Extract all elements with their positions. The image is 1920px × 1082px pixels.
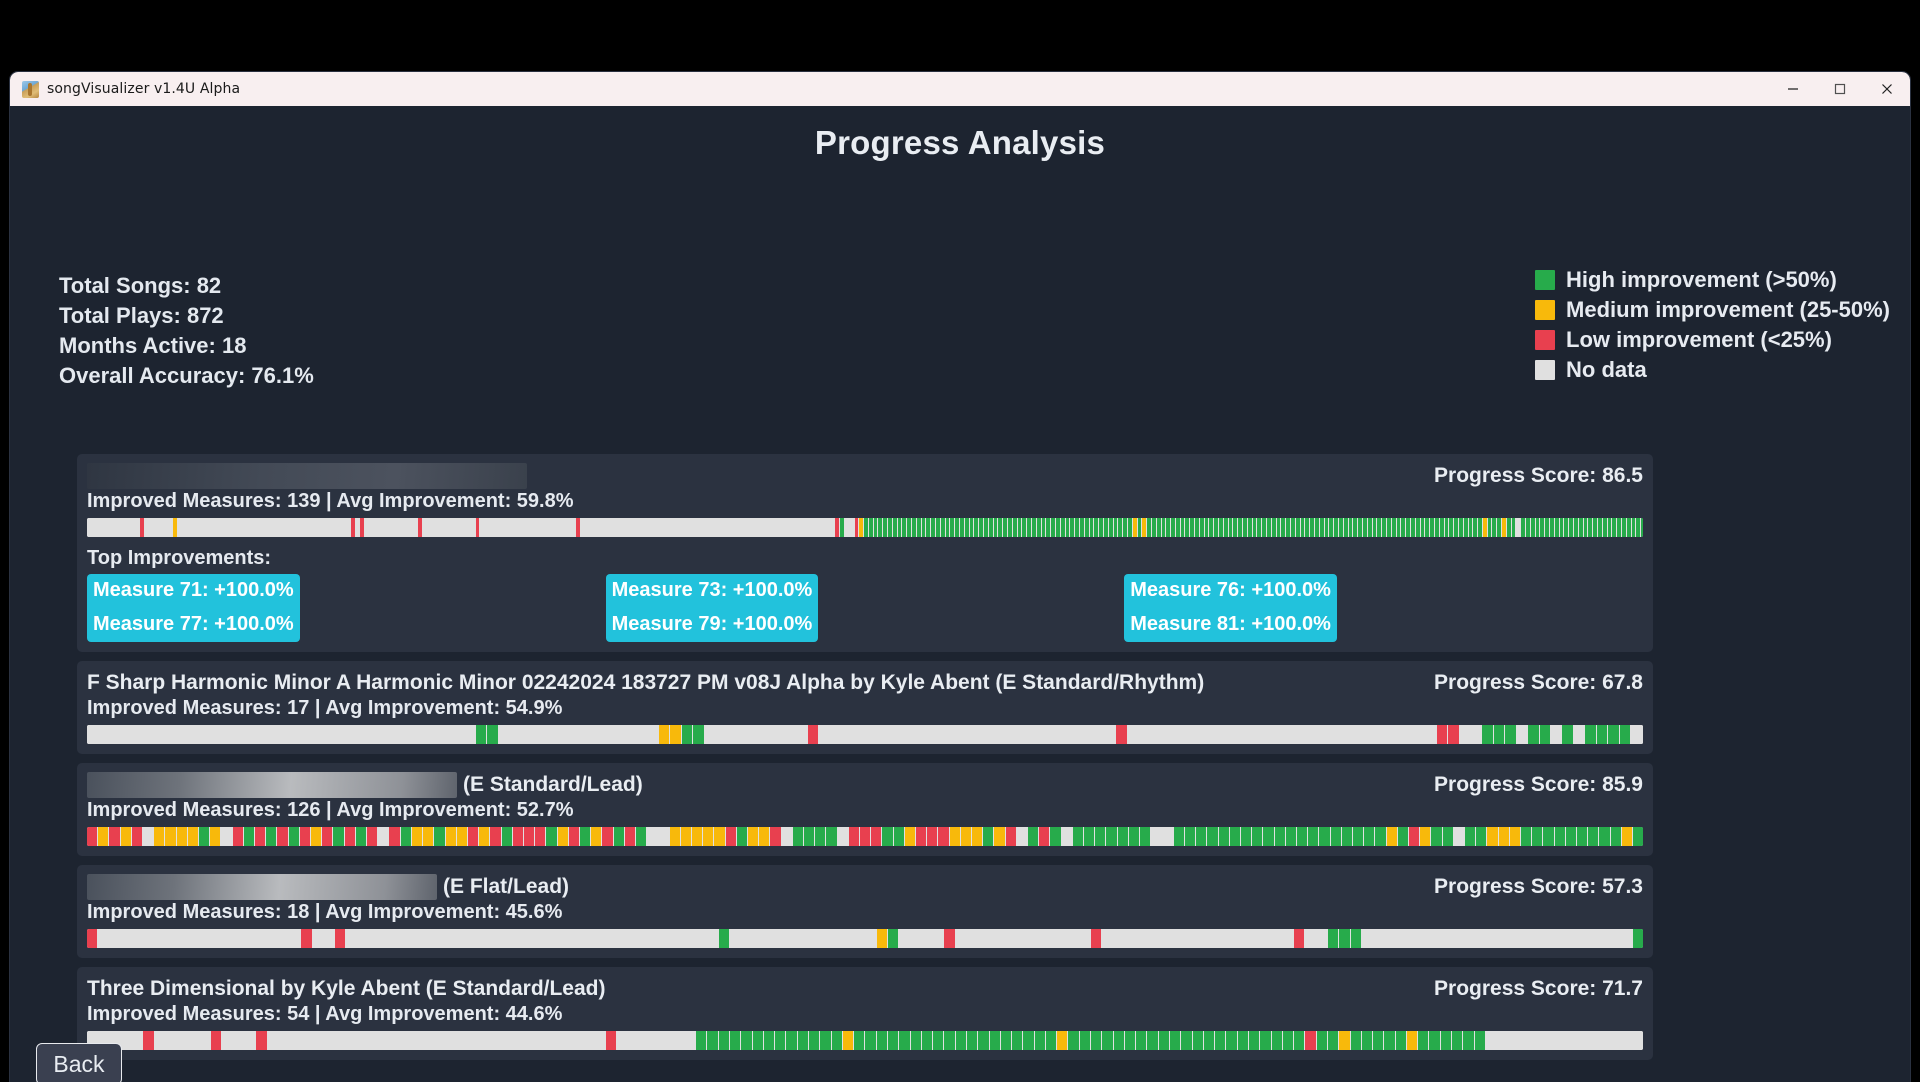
measure-cell [1351, 929, 1362, 948]
measure-cell [1170, 1031, 1181, 1050]
measure-cell [522, 725, 533, 744]
song-card[interactable]: F Sharp Harmonic Minor A Harmonic Minor … [77, 661, 1653, 754]
measure-cell [1441, 1031, 1452, 1050]
legend-item: Low improvement (<25%) [1535, 328, 1890, 352]
measure-cell [121, 929, 132, 948]
measure-cell [944, 1031, 955, 1050]
measure-cell [459, 1031, 470, 1050]
measure-cell [853, 725, 864, 744]
measure-cell [513, 827, 524, 846]
measure-cell [1460, 725, 1471, 744]
measure-progress-bar [87, 929, 1643, 948]
measure-cell [950, 827, 961, 846]
measure-cell [714, 827, 725, 846]
progress-score: Progress Score: 57.3 [1434, 873, 1643, 901]
measure-cell [1181, 1031, 1192, 1050]
measure-cell [1294, 929, 1305, 948]
measure-cell [1311, 725, 1322, 744]
measure-cell [1012, 1031, 1023, 1050]
legend-label: Medium improvement (25-50%) [1566, 297, 1890, 323]
measure-cell [1219, 725, 1230, 744]
measure-cell [1265, 725, 1276, 744]
measure-cell [1082, 725, 1093, 744]
measure-cell [572, 1031, 583, 1050]
measure-cell [221, 827, 232, 846]
measure-cell [1128, 725, 1139, 744]
measure-cell [457, 827, 468, 846]
measure-cell [482, 929, 493, 948]
measure-cell [1106, 827, 1117, 846]
measure-cell [1510, 827, 1521, 846]
improvement-chip[interactable]: Measure 71: +100.0% [87, 574, 300, 608]
measure-cell [1641, 518, 1643, 537]
stat-line: Overall Accuracy: 76.1% [59, 361, 314, 391]
measure-cell [211, 1031, 222, 1050]
measure-cell [471, 929, 482, 948]
measure-cell [651, 1031, 662, 1050]
measure-cell [1375, 827, 1386, 846]
measure-cell [693, 725, 704, 744]
measure-cell [1542, 929, 1553, 948]
measure-cell [1174, 725, 1185, 744]
measure-cell [1420, 827, 1431, 846]
progress-score: Progress Score: 71.7 [1434, 975, 1643, 1003]
page-content: Progress Analysis Total Songs: 82Total P… [10, 106, 1910, 1082]
measure-cell [1035, 929, 1046, 948]
measure-cell [1272, 1031, 1283, 1050]
measure-cell [1610, 929, 1621, 948]
measure-cell [572, 929, 583, 948]
measure-cell [956, 1031, 967, 1050]
measure-cell [750, 725, 761, 744]
measure-cell [1373, 929, 1384, 948]
measure-cell [1048, 725, 1059, 744]
measure-cell [591, 827, 602, 846]
measure-cell [245, 1031, 256, 1050]
measure-cell [1554, 1031, 1565, 1050]
measure-cell [842, 725, 853, 744]
measure-cell [737, 827, 748, 846]
song-title-text: F Sharp Harmonic Minor A Harmonic Minor … [87, 671, 1204, 695]
measure-cell [819, 725, 830, 744]
measure-cell [110, 929, 121, 948]
measure-cell [1384, 1031, 1395, 1050]
measure-cell [1275, 827, 1286, 846]
measure-cell [1136, 929, 1147, 948]
measure-cell [222, 1031, 233, 1050]
measure-cell [922, 1031, 933, 1050]
measure-cell [255, 827, 266, 846]
measure-cell [345, 827, 356, 846]
measure-cell [865, 1031, 876, 1050]
measure-cell [1159, 1031, 1170, 1050]
maximize-icon[interactable] [1816, 72, 1863, 106]
measure-cell [705, 725, 716, 744]
song-card-header: Three Dimensional by Kyle Abent (E Stand… [87, 975, 1643, 1003]
measure-cell [333, 827, 344, 846]
song-card[interactable]: (E Flat/Lead)Progress Score: 57.3Improve… [77, 865, 1653, 958]
measure-cell [396, 725, 407, 744]
measure-cell [1084, 827, 1095, 846]
measure-cell [636, 725, 647, 744]
measure-cell [1263, 827, 1274, 846]
song-card[interactable]: Progress Score: 86.5Improved Measures: 1… [77, 454, 1653, 652]
measure-cell [1339, 1031, 1350, 1050]
legend-swatch-icon [1535, 360, 1555, 380]
measure-cell [504, 929, 515, 948]
measure-cell [236, 725, 247, 744]
measure-cell [798, 1031, 809, 1050]
improvement-chip[interactable]: Measure 81: +100.0% [1124, 608, 1337, 642]
measure-cell [911, 1031, 922, 1050]
measure-cell [313, 929, 324, 948]
measure-cell [143, 1031, 154, 1050]
measure-cell [1094, 725, 1105, 744]
measure-cell [703, 827, 714, 846]
measure-cell [464, 725, 475, 744]
measure-cell [1362, 929, 1373, 948]
measure-cell [922, 725, 933, 744]
song-title-suffix: (E Flat/Lead) [443, 875, 569, 899]
measure-cell [933, 725, 944, 744]
measure-cell [1114, 1031, 1125, 1050]
measure-cell [210, 827, 221, 846]
measure-cell [911, 725, 922, 744]
measure-cell [256, 929, 267, 948]
measure-cell [877, 1031, 888, 1050]
measure-cell [613, 725, 624, 744]
measure-cell [1023, 929, 1034, 948]
legend-swatch-icon [1535, 270, 1555, 290]
measure-cell [1272, 929, 1283, 948]
measure-cell [640, 929, 651, 948]
measure-cell [419, 725, 430, 744]
measure-cell [1196, 725, 1207, 744]
measure-cell [1046, 1031, 1057, 1050]
measure-cell [1297, 827, 1308, 846]
measure-cell [201, 725, 212, 744]
measure-cell [322, 827, 333, 846]
measure-cell [380, 929, 391, 948]
measure-cell [696, 929, 707, 948]
measure-progress-bar [87, 725, 1643, 744]
measure-cell [1050, 827, 1061, 846]
measure-cell [1540, 725, 1551, 744]
measure-cell [860, 827, 871, 846]
measure-cell [471, 1031, 482, 1050]
measure-cell [270, 725, 281, 744]
measure-cell [1080, 929, 1091, 948]
measure-cell [378, 827, 389, 846]
measure-cell [1633, 929, 1643, 948]
measure-cell [281, 725, 292, 744]
measure-cell [339, 725, 350, 744]
titlebar-left-group: songVisualizer v1.4U Alpha [10, 81, 1769, 98]
measure-cell [785, 725, 796, 744]
measure-cell [487, 725, 498, 744]
song-stats-line: Improved Measures: 17 | Avg Improvement:… [87, 695, 1643, 721]
measure-cell [944, 929, 955, 948]
measure-cell [1508, 929, 1519, 948]
measure-cell [579, 725, 590, 744]
measure-cell [437, 1031, 448, 1050]
measure-cell [681, 827, 692, 846]
measure-cell [1587, 929, 1598, 948]
measure-cell [1207, 827, 1218, 846]
measure-cell [550, 929, 561, 948]
legend-swatch-icon [1535, 300, 1555, 320]
progress-score: Progress Score: 67.8 [1434, 669, 1643, 697]
measure-cell [804, 827, 815, 846]
measure-cell [1463, 929, 1474, 948]
measure-cell [899, 725, 910, 744]
measure-cell [1226, 1031, 1237, 1050]
measure-cell [1102, 929, 1113, 948]
measure-cell [606, 1031, 617, 1050]
measure-cell [527, 929, 538, 948]
measure-cell [1185, 725, 1196, 744]
measure-cell [499, 725, 510, 744]
measure-cell [786, 1031, 797, 1050]
measure-cell [762, 725, 773, 744]
measure-cell [1505, 725, 1516, 744]
measure-cell [815, 827, 826, 846]
measure-cell [1345, 725, 1356, 744]
measure-cell [154, 827, 165, 846]
measure-cell [165, 827, 176, 846]
measure-cell [510, 725, 521, 744]
measure-cell [1136, 1031, 1147, 1050]
measure-cell [412, 827, 423, 846]
measure-cell [808, 725, 819, 744]
measure-cell [1125, 1031, 1136, 1050]
measure-cell [888, 725, 899, 744]
measure-cell [1396, 1031, 1407, 1050]
measure-cell [1062, 827, 1073, 846]
measure-cell [1414, 725, 1425, 744]
measure-cell [990, 1031, 1001, 1050]
measure-cell [301, 929, 312, 948]
measure-cell [279, 1031, 290, 1050]
measure-cell [1608, 725, 1619, 744]
measure-cell [476, 725, 487, 744]
measure-cell [1102, 1031, 1113, 1050]
improvement-chip[interactable]: Measure 76: +100.0% [1124, 574, 1337, 608]
measure-cell [1283, 929, 1294, 948]
measure-cell [1497, 1031, 1508, 1050]
measure-cell [1319, 827, 1330, 846]
measure-cell [434, 827, 445, 846]
measure-cell [524, 827, 535, 846]
measure-cell [423, 827, 434, 846]
measure-cell [595, 929, 606, 948]
measure-cell [1452, 929, 1463, 948]
measure-cell [155, 1031, 166, 1050]
measure-cell [453, 725, 464, 744]
measure-cell [1364, 827, 1375, 846]
measure-cell [110, 725, 121, 744]
measure-cell [793, 827, 804, 846]
progress-score: Progress Score: 85.9 [1434, 771, 1643, 799]
measure-cell [1431, 827, 1442, 846]
measure-cell [602, 725, 613, 744]
measure-cell [719, 1031, 730, 1050]
song-stats-line: Improved Measures: 18 | Avg Improvement:… [87, 899, 1643, 925]
top-improvements-column: Measure 73: +100.0%Measure 79: +100.0% [606, 574, 1125, 642]
measure-cell [1554, 929, 1565, 948]
measure-cell [707, 929, 718, 948]
measure-cell [389, 827, 400, 846]
measure-cell [442, 725, 453, 744]
measure-cell [392, 929, 403, 948]
measure-cell [1357, 725, 1368, 744]
measure-cell [1574, 725, 1585, 744]
minimize-icon[interactable] [1769, 72, 1816, 106]
measure-cell [716, 725, 727, 744]
measure-cell [87, 827, 98, 846]
close-icon[interactable] [1863, 72, 1910, 106]
measure-cell [1193, 1031, 1204, 1050]
measure-cell [556, 725, 567, 744]
measure-cell [403, 929, 414, 948]
measure-cell [1471, 725, 1482, 744]
measure-cell [316, 725, 327, 744]
measure-cell [1208, 725, 1219, 744]
measure-cell [407, 725, 418, 744]
measure-cell [832, 929, 843, 948]
measure-cell [504, 1031, 515, 1050]
measure-cell [730, 929, 741, 948]
measure-cell [367, 827, 378, 846]
measure-cell [98, 929, 109, 948]
measure-cell [1441, 929, 1452, 948]
measure-cell [933, 929, 944, 948]
measure-cell [1620, 725, 1631, 744]
measure-cell [1517, 725, 1528, 744]
measure-cell [1299, 725, 1310, 744]
measure-cell [279, 929, 290, 948]
measure-cell [1566, 827, 1577, 846]
measure-cell [98, 827, 109, 846]
measure-cell [1610, 1031, 1621, 1050]
measure-cell [809, 1031, 820, 1050]
measure-cell [121, 725, 132, 744]
measure-cell [538, 1031, 549, 1050]
measure-cell [1475, 929, 1486, 948]
improvement-chip[interactable]: Measure 79: +100.0% [606, 608, 819, 642]
measure-cell [796, 725, 807, 744]
measure-cell [1193, 929, 1204, 948]
measure-cell [968, 725, 979, 744]
measure-cell [1252, 827, 1263, 846]
measure-cell [809, 929, 820, 948]
measure-cell [1633, 827, 1643, 846]
measure-cell [1147, 1031, 1158, 1050]
top-improvements-column: Measure 71: +100.0%Measure 77: +100.0% [87, 574, 606, 642]
measure-cell [1353, 827, 1364, 846]
measure-cell [741, 929, 752, 948]
measure-cell [290, 1031, 301, 1050]
measure-cell [590, 725, 601, 744]
song-title-suffix: (E Standard/Lead) [463, 773, 643, 797]
measure-cell [1260, 929, 1271, 948]
measure-cell [1387, 827, 1398, 846]
measure-cell [994, 827, 1005, 846]
measure-cell [1486, 929, 1497, 948]
measure-cell [1368, 725, 1379, 744]
measure-cell [730, 1031, 741, 1050]
measure-cell [233, 827, 244, 846]
legend-label: High improvement (>50%) [1566, 267, 1837, 293]
measure-cell [1073, 827, 1084, 846]
measure-cell [1286, 827, 1297, 846]
measure-cell [682, 725, 693, 744]
measure-cell [1139, 725, 1150, 744]
measure-cell [830, 725, 841, 744]
legend-item: No data [1535, 358, 1890, 382]
measure-cell [132, 827, 143, 846]
measure-cell [629, 1031, 640, 1050]
measure-cell [1230, 827, 1241, 846]
measure-cell [1373, 1031, 1384, 1050]
progress-score: Progress Score: 86.5 [1434, 462, 1643, 490]
measure-progress-bar [87, 827, 1643, 846]
measure-cell [293, 725, 304, 744]
song-card-header: Progress Score: 86.5 [87, 462, 1643, 490]
measure-cell [356, 827, 367, 846]
measure-cell [550, 1031, 561, 1050]
measure-cell [1588, 827, 1599, 846]
measure-cell [967, 1031, 978, 1050]
measure-cell [911, 929, 922, 948]
measure-cell [1621, 929, 1632, 948]
improvement-chip[interactable]: Measure 77: +100.0% [87, 608, 300, 642]
back-button[interactable]: Back [36, 1043, 122, 1082]
measure-cell [425, 929, 436, 948]
measure-cell [1163, 827, 1174, 846]
measure-cell [546, 827, 557, 846]
song-card[interactable]: (E Standard/Lead)Progress Score: 85.9Imp… [77, 763, 1653, 856]
measure-cell [244, 827, 255, 846]
measure-cell [234, 929, 245, 948]
measure-cell [199, 827, 210, 846]
measure-cell [1448, 725, 1459, 744]
measure-cell [1204, 929, 1215, 948]
measure-cell [854, 1031, 865, 1050]
measure-cell [843, 929, 854, 948]
measure-cell [1429, 1031, 1440, 1050]
song-card[interactable]: Three Dimensional by Kyle Abent (E Stand… [77, 967, 1653, 1060]
measure-cell [662, 1031, 673, 1050]
measure-cell [1002, 725, 1013, 744]
measure-cell [493, 929, 504, 948]
measure-cell [979, 725, 990, 744]
song-title: F Sharp Harmonic Minor A Harmonic Minor … [87, 671, 1204, 695]
measure-cell [224, 725, 235, 744]
measure-cell [843, 1031, 854, 1050]
measure-cell [888, 929, 899, 948]
measure-cell [1294, 1031, 1305, 1050]
improvement-chip[interactable]: Measure 73: +100.0% [606, 574, 819, 608]
measure-cell [143, 827, 154, 846]
measure-cell [773, 725, 784, 744]
song-title: (E Standard/Lead) [87, 772, 643, 798]
measure-cell [685, 1031, 696, 1050]
measure-cell [1528, 725, 1539, 744]
measure-cell [798, 929, 809, 948]
window-titlebar[interactable]: songVisualizer v1.4U Alpha [10, 72, 1910, 106]
measure-cell [266, 827, 277, 846]
